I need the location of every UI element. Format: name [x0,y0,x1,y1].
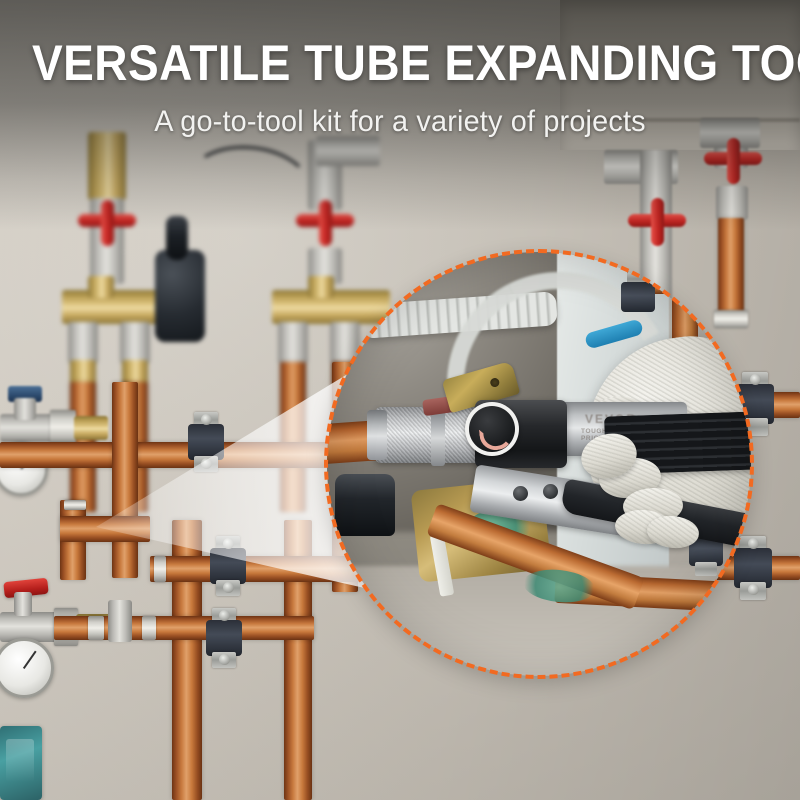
clamp-screw-6 [201,414,212,425]
teal-control-box [0,726,42,800]
steel-elbow-top [316,136,380,166]
magnifier-dashed-ring [324,249,754,679]
clamp-screw-2 [750,374,761,385]
copper-vertical-1 [112,382,138,578]
black-sensor-body [155,250,205,342]
brass-fitting [88,132,126,200]
product-banner: VEVOR TOUGH TOOLS, HALF PRICE VER [0,0,800,800]
red-valve-handle-stem [101,200,114,246]
steel-coupler-far [716,186,748,220]
steel-union-3 [278,322,308,364]
red-valve-stem-2 [319,200,332,246]
steel-union-right [120,322,150,364]
page-title: VERSATILE TUBE EXPANDING TOOL [32,36,768,90]
copper-run-upper [0,442,340,468]
pipe-solder-ring-2 [88,616,104,640]
brass-port [88,276,114,298]
clamp-screw-6b [201,458,212,469]
clamp-screw-5b [219,654,230,665]
red-lever-stem [14,592,32,616]
page-subtitle: A go-to-tool kit for a variety of projec… [16,104,784,140]
red-valve-stem-4 [727,138,740,184]
copper-drop-3 [280,362,306,512]
pipe-clamp-5 [206,620,242,656]
blue-valve-stem [14,398,36,420]
magnified-inset: VEVOR TOUGH TOOLS, HALF PRICE [327,252,751,676]
clamp-screw-5 [219,610,230,621]
pipe-clamp-6 [188,424,224,460]
pipe-solder-ring-4 [154,556,166,582]
clamp-screw-4 [223,538,234,549]
gauge-nut-upper [50,410,76,444]
red-valve-stem-3 [651,198,664,246]
clamp-screw-4b [223,582,234,593]
pipe-solder-ring-1 [64,500,86,510]
pipe-clamp-4 [210,548,246,584]
brass-elbow-upper [74,416,108,440]
pipe-solder-ring-3 [142,616,156,640]
copper-elbow-arm [60,516,150,542]
pipe-tee-steel [108,600,132,642]
steel-union-left [68,322,98,364]
